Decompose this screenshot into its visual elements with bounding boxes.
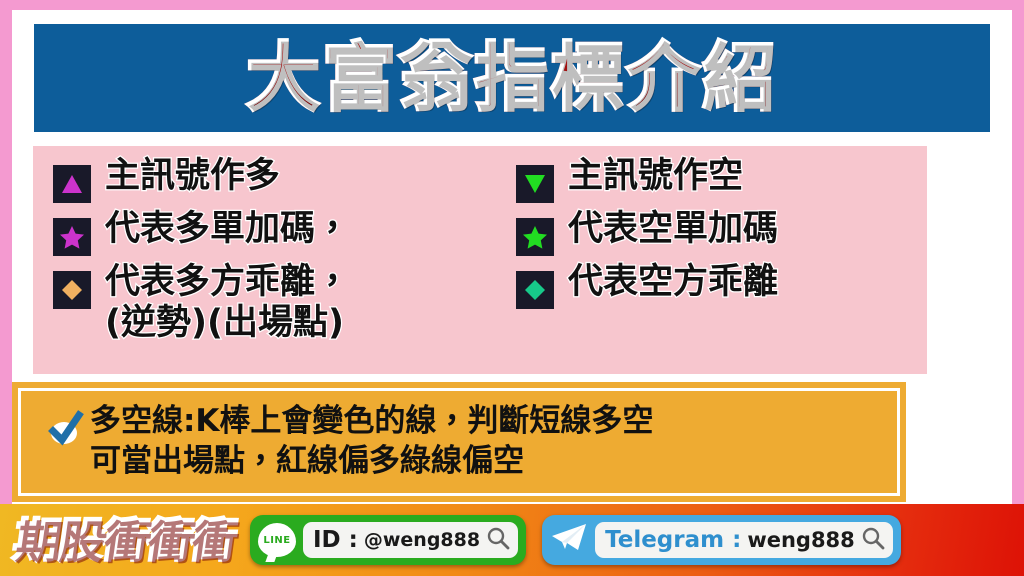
page-title: 大富翁指標介紹: [34, 41, 990, 115]
page-white-background: 大富翁指標介紹 主訊號作多: [12, 10, 1012, 566]
legend-item-label: 代表空單加碼: [568, 209, 778, 250]
legend-grid: 主訊號作多 代表多單加碼，: [33, 146, 927, 374]
telegram-label: Telegram :: [605, 527, 741, 553]
line-logo-text: LINE: [263, 535, 290, 546]
legend-column-bullish: 主訊號作多 代表多單加碼，: [33, 156, 480, 351]
check-mark-icon: [46, 410, 84, 452]
star-icon: [516, 218, 554, 256]
diamond-icon: [516, 271, 554, 309]
telegram-id-field[interactable]: Telegram : weng888: [595, 522, 893, 558]
legend-item-label: 代表多單加碼，: [105, 209, 350, 250]
triangle-up-icon: [53, 165, 91, 203]
magnifier-icon[interactable]: [486, 526, 510, 554]
legend-item: 代表空方乖離: [516, 262, 927, 309]
line-id-field[interactable]: ID : @weng888: [303, 522, 518, 558]
legend-item: 代表多方乖離， (逆勢)(出場點): [53, 262, 480, 345]
legend-panel: 主訊號作多 代表多單加碼，: [33, 146, 927, 374]
legend-item: 代表多單加碼，: [53, 209, 480, 256]
star-icon: [53, 218, 91, 256]
telegram-value: weng888: [747, 528, 854, 552]
line-contact-badge[interactable]: LINE ID : @weng888: [250, 515, 526, 565]
legend-item: 代表空單加碼: [516, 209, 927, 256]
legend-item-label: 主訊號作多: [105, 156, 280, 197]
legend-item-label: 主訊號作空: [568, 156, 743, 197]
diamond-icon: [53, 271, 91, 309]
note-inner: 多空線:K棒上會變色的線，判斷短線多空 可當出場點，紅線偏多綠線偏空: [16, 402, 653, 481]
line-id-value: @weng888: [364, 529, 480, 551]
legend-item-label: 代表空方乖離: [568, 262, 778, 303]
telegram-contact-badge[interactable]: Telegram : weng888: [542, 515, 901, 565]
note-text: 多空線:K棒上會變色的線，判斷短線多空 可當出場點，紅線偏多綠線偏空: [90, 402, 653, 481]
slide-root: 大富翁指標介紹 主訊號作多: [0, 0, 1024, 576]
brand-logo: 期股衝衝衝: [11, 517, 237, 563]
legend-column-bearish: 主訊號作空 代表空單加碼: [480, 156, 927, 351]
line-logo-icon: LINE: [258, 523, 296, 557]
line-id-label: ID :: [313, 527, 358, 553]
legend-item-label: 代表多方乖離， (逆勢)(出場點): [105, 262, 350, 345]
magnifier-icon[interactable]: [861, 526, 885, 554]
legend-item: 主訊號作空: [516, 156, 927, 203]
note-box: 多空線:K棒上會變色的線，判斷短線多空 可當出場點，紅線偏多綠線偏空: [12, 382, 906, 502]
paper-plane-icon: [550, 522, 588, 558]
title-bar: 大富翁指標介紹: [34, 24, 990, 132]
legend-item: 主訊號作多: [53, 156, 480, 203]
footer-contact-bar: 期股衝衝衝 LINE ID : @weng888: [0, 504, 1024, 576]
triangle-down-icon: [516, 165, 554, 203]
